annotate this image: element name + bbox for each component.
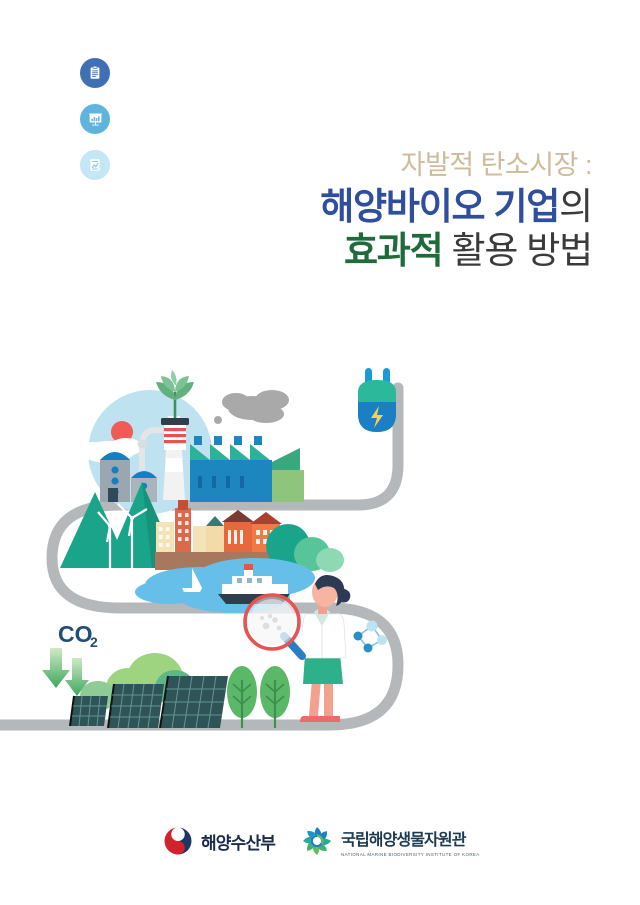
title-line-2-suffix: 의 xyxy=(559,186,592,227)
smoke-cloud xyxy=(214,390,289,424)
title-line-2: 해양바이오 기업의 xyxy=(320,188,592,225)
presentation-chart-icon xyxy=(80,104,110,134)
footer-logos: 해양수산부 xyxy=(0,825,640,857)
institute-name-ko: 국립해양생물자원관 xyxy=(341,826,477,850)
title-line-3-rest: 활용 방법 xyxy=(442,230,592,271)
title-kicker: 자발적 탄소시장 : xyxy=(320,152,592,179)
cover-title-block: 자발적 탄소시장 : 해양바이오 기업의 효과적 활용 방법 xyxy=(320,152,592,276)
document-cover: 자발적 탄소시장 : 해양바이오 기업의 효과적 활용 방법 xyxy=(0,0,640,905)
institute-name-en: NATIONAL MARINE BIODIVERSITY INSTITUTE O… xyxy=(341,852,480,857)
title-line-2-strong: 해양바이오 기업 xyxy=(320,186,559,227)
ministry-wordmark: 해양수산부 xyxy=(201,829,275,854)
ministry-name-ko: 해양수산부 xyxy=(201,829,275,854)
title-line-3: 효과적 활용 방법 xyxy=(320,232,592,269)
cover-illustration: CO 2 xyxy=(0,340,640,800)
national-marine-biodiversity-institute-logo: 국립해양생물자원관 NATIONAL MARINE BIODIVERSITY I… xyxy=(301,825,477,857)
globe-leaf-icon xyxy=(301,825,333,857)
clipboard-document-icon xyxy=(80,58,110,88)
decorative-icon-stack xyxy=(80,58,114,196)
svg-text:2: 2 xyxy=(90,634,98,650)
co2-down-arrows xyxy=(42,648,89,696)
ministry-of-oceans-and-fisheries-logo: 해양수산부 xyxy=(163,826,275,856)
taegeuk-swirl-icon xyxy=(163,826,193,856)
trees xyxy=(227,666,290,728)
report-page-icon xyxy=(80,150,110,180)
title-line-3-strong: 효과적 xyxy=(344,230,443,271)
institute-wordmark: 국립해양생물자원관 NATIONAL MARINE BIODIVERSITY I… xyxy=(341,826,477,857)
power-plug-icon xyxy=(358,368,396,432)
co2-label: CO 2 xyxy=(58,621,98,650)
industrial-factory-scene xyxy=(78,368,396,514)
svg-text:CO: CO xyxy=(58,621,93,647)
